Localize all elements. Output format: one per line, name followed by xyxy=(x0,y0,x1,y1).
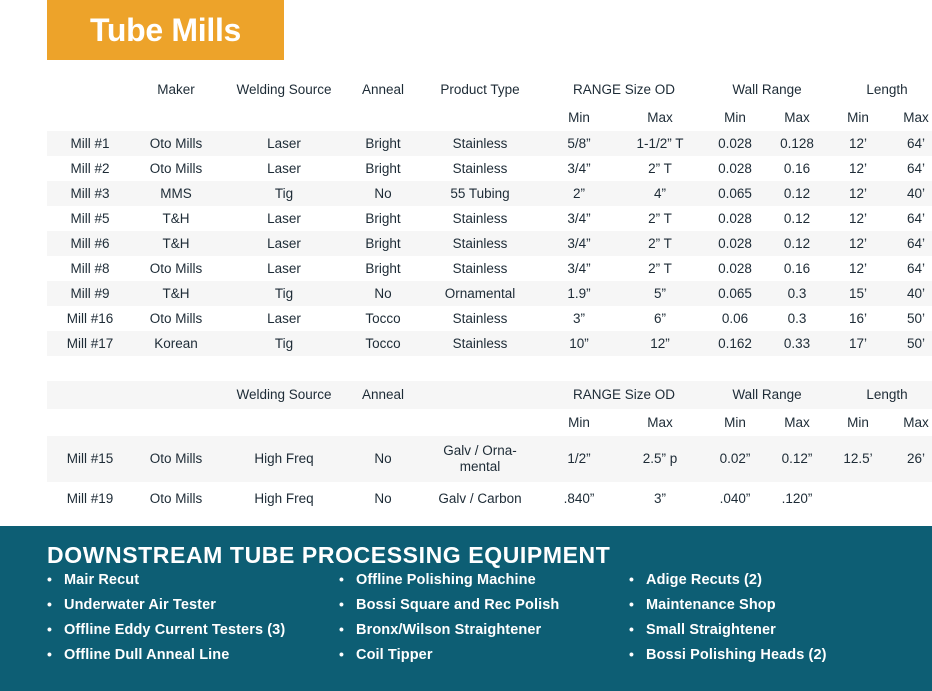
table-row: Mill #19Oto MillsHigh FreqNoGalv / Carbo… xyxy=(47,482,932,516)
sub-blank-2 xyxy=(133,104,219,131)
bullet-icon: • xyxy=(47,647,64,661)
table-row: Mill #6T&HLaserBrightStainless3/4”2” T0.… xyxy=(47,231,932,256)
downstream-equipment-item: •Small Straightener xyxy=(629,622,917,647)
table-row: Mill #1Oto MillsLaserBrightStainless5/8”… xyxy=(47,131,932,156)
welding-source-cell: Tig xyxy=(219,331,349,356)
length-max-cell: 64’ xyxy=(887,256,932,281)
length-min-cell: 12.5’ xyxy=(829,436,887,482)
product-type-cell: Stainless xyxy=(417,156,543,181)
length-max-cell: 64’ xyxy=(887,231,932,256)
length-max-cell: 40’ xyxy=(887,181,932,206)
sub2-wall-max: Max xyxy=(765,409,829,436)
wall-min-cell: 0.028 xyxy=(705,231,765,256)
length-min-cell: 12’ xyxy=(829,256,887,281)
mill-id-cell: Mill #15 xyxy=(47,436,133,482)
length-max-cell: 50’ xyxy=(887,306,932,331)
od-min-cell: 2” xyxy=(543,181,615,206)
sub2-wall-min: Min xyxy=(705,409,765,436)
od-min-cell: 3” xyxy=(543,306,615,331)
downstream-equipment-label: Bossi Square and Rec Polish xyxy=(356,597,559,613)
length-min-cell: 17’ xyxy=(829,331,887,356)
mill-id-cell: Mill #2 xyxy=(47,156,133,181)
header-range-size-od: RANGE Size OD xyxy=(543,76,705,104)
od-min-cell: 3/4” xyxy=(543,231,615,256)
downstream-equipment-label: Bossi Polishing Heads (2) xyxy=(646,647,827,663)
header-blank xyxy=(47,76,133,104)
welding-source-cell: High Freq xyxy=(219,482,349,516)
od-max-cell: 2.5” p xyxy=(615,436,705,482)
downstream-equipment-label: Offline Eddy Current Testers (3) xyxy=(64,622,285,638)
sub-od-max: Max xyxy=(615,104,705,131)
length-min-cell: 12’ xyxy=(829,206,887,231)
welding-source-cell: High Freq xyxy=(219,436,349,482)
bullet-icon: • xyxy=(47,597,64,611)
wall-min-cell: 0.06 xyxy=(705,306,765,331)
sub-wall-max: Max xyxy=(765,104,829,131)
downstream-equipment-section: DOWNSTREAM TUBE PROCESSING EQUIPMENT •Ma… xyxy=(0,526,932,691)
bullet-icon: • xyxy=(339,572,356,586)
welding-source-cell: Laser xyxy=(219,231,349,256)
downstream-column-1: •Mair Recut•Underwater Air Tester•Offlin… xyxy=(47,572,339,672)
maker-cell: Oto Mills xyxy=(133,156,219,181)
maker-cell: T&H xyxy=(133,281,219,306)
sub-length-max: Max xyxy=(887,104,932,131)
anneal-cell: No xyxy=(349,281,417,306)
sub2-length-max: Max xyxy=(887,409,932,436)
length-max-cell xyxy=(887,482,932,516)
wall-min-cell: 0.028 xyxy=(705,131,765,156)
wall-max-cell: 0.16 xyxy=(765,156,829,181)
table-row: Mill #8Oto MillsLaserBrightStainless3/4”… xyxy=(47,256,932,281)
od-min-cell: 3/4” xyxy=(543,256,615,281)
table-row: Mill #15Oto MillsHigh FreqNoGalv / Orna-… xyxy=(47,436,932,482)
downstream-equipment-label: Underwater Air Tester xyxy=(64,597,216,613)
downstream-equipment-item: •Offline Eddy Current Testers (3) xyxy=(47,622,339,647)
product-type-cell: Stainless xyxy=(417,306,543,331)
od-max-cell: 12” xyxy=(615,331,705,356)
sub2-blank-2 xyxy=(133,409,219,436)
downstream-equipment-item: •Offline Polishing Machine xyxy=(339,572,629,597)
length-max-cell: 64’ xyxy=(887,206,932,231)
downstream-equipment-label: Mair Recut xyxy=(64,572,139,588)
wall-max-cell: 0.12 xyxy=(765,181,829,206)
header2-maker xyxy=(133,381,219,409)
downstream-equipment-label: Small Straightener xyxy=(646,622,776,638)
mill-id-cell: Mill #19 xyxy=(47,482,133,516)
od-max-cell: 2” T xyxy=(615,256,705,281)
anneal-cell: Bright xyxy=(349,131,417,156)
wall-max-cell: 0.3 xyxy=(765,281,829,306)
od-min-cell: 10” xyxy=(543,331,615,356)
maker-cell: Oto Mills xyxy=(133,482,219,516)
sub-length-min: Min xyxy=(829,104,887,131)
downstream-equipment-item: •Adige Recuts (2) xyxy=(629,572,917,597)
downstream-equipment-label: Offline Dull Anneal Line xyxy=(64,647,229,663)
sub-blank-4 xyxy=(349,104,417,131)
maker-cell: Korean xyxy=(133,331,219,356)
table-one-body: Mill #1Oto MillsLaserBrightStainless5/8”… xyxy=(47,131,932,356)
welding-source-cell: Laser xyxy=(219,131,349,156)
downstream-equipment-label: Coil Tipper xyxy=(356,647,433,663)
bullet-icon: • xyxy=(629,597,646,611)
table-row: Mill #16Oto MillsLaserToccoStainless3”6”… xyxy=(47,306,932,331)
table-row: Mill #17KoreanTigToccoStainless10”12”0.1… xyxy=(47,331,932,356)
mill-id-cell: Mill #16 xyxy=(47,306,133,331)
header-maker: Maker xyxy=(133,76,219,104)
od-max-cell: 2” T xyxy=(615,206,705,231)
sub2-blank-5 xyxy=(417,409,543,436)
length-max-cell: 64’ xyxy=(887,156,932,181)
sub-od-min: Min xyxy=(543,104,615,131)
od-max-cell: 1-1/2” T xyxy=(615,131,705,156)
wall-min-cell: 0.065 xyxy=(705,281,765,306)
od-max-cell: 6” xyxy=(615,306,705,331)
anneal-cell: No xyxy=(349,482,417,516)
mill-id-cell: Mill #5 xyxy=(47,206,133,231)
sub-blank-1 xyxy=(47,104,133,131)
downstream-equipment-item: •Mair Recut xyxy=(47,572,339,597)
length-min-cell xyxy=(829,482,887,516)
tube-mills-infographic: Tube Mills Maker Welding Source Anneal P… xyxy=(0,0,932,691)
bullet-icon: • xyxy=(629,622,646,636)
product-type-cell: Stainless xyxy=(417,131,543,156)
sub-wall-min: Min xyxy=(705,104,765,131)
table-two-group-header-row: Welding Source Anneal RANGE Size OD Wall… xyxy=(47,381,932,409)
wall-max-cell: 0.3 xyxy=(765,306,829,331)
downstream-section-title: DOWNSTREAM TUBE PROCESSING EQUIPMENT xyxy=(47,542,610,569)
header2-blank xyxy=(47,381,133,409)
sub2-od-min: Min xyxy=(543,409,615,436)
product-type-cell: Ornamental xyxy=(417,281,543,306)
downstream-equipment-item: •Offline Dull Anneal Line xyxy=(47,647,339,672)
welding-source-cell: Tig xyxy=(219,281,349,306)
bullet-icon: • xyxy=(339,622,356,636)
anneal-cell: Bright xyxy=(349,256,417,281)
downstream-equipment-label: Maintenance Shop xyxy=(646,597,776,613)
wall-min-cell: 0.065 xyxy=(705,181,765,206)
table-row: Mill #2Oto MillsLaserBrightStainless3/4”… xyxy=(47,156,932,181)
maker-cell: MMS xyxy=(133,181,219,206)
od-max-cell: 4” xyxy=(615,181,705,206)
downstream-equipment-item: •Bossi Square and Rec Polish xyxy=(339,597,629,622)
product-type-cell: Galv / Orna-mental xyxy=(417,436,543,482)
header2-product-type xyxy=(417,381,543,409)
anneal-cell: No xyxy=(349,181,417,206)
anneal-cell: Tocco xyxy=(349,331,417,356)
mill-id-cell: Mill #6 xyxy=(47,231,133,256)
length-min-cell: 12’ xyxy=(829,156,887,181)
mill-id-cell: Mill #17 xyxy=(47,331,133,356)
anneal-cell: Bright xyxy=(349,231,417,256)
sub2-length-min: Min xyxy=(829,409,887,436)
sub2-od-max: Max xyxy=(615,409,705,436)
anneal-cell: Tocco xyxy=(349,306,417,331)
welding-source-cell: Laser xyxy=(219,256,349,281)
mill-id-cell: Mill #1 xyxy=(47,131,133,156)
header2-range-size-od: RANGE Size OD xyxy=(543,381,705,409)
downstream-equipment-label: Adige Recuts (2) xyxy=(646,572,762,588)
wall-max-cell: 0.12” xyxy=(765,436,829,482)
mill-id-cell: Mill #3 xyxy=(47,181,133,206)
anneal-cell: No xyxy=(349,436,417,482)
od-min-cell: 1/2” xyxy=(543,436,615,482)
od-max-cell: 5” xyxy=(615,281,705,306)
maker-cell: T&H xyxy=(133,231,219,256)
product-type-cell: Stainless xyxy=(417,206,543,231)
od-min-cell: 5/8” xyxy=(543,131,615,156)
table-row: Mill #5T&HLaserBrightStainless3/4”2” T0.… xyxy=(47,206,932,231)
anneal-cell: Bright xyxy=(349,206,417,231)
maker-cell: T&H xyxy=(133,206,219,231)
maker-cell: Oto Mills xyxy=(133,256,219,281)
title-banner: Tube Mills xyxy=(47,0,284,60)
downstream-column-2: •Offline Polishing Machine•Bossi Square … xyxy=(339,572,629,672)
bullet-icon: • xyxy=(339,647,356,661)
mill-id-cell: Mill #8 xyxy=(47,256,133,281)
downstream-equipment-label: Offline Polishing Machine xyxy=(356,572,536,588)
wall-min-cell: 0.028 xyxy=(705,206,765,231)
sub-blank-3 xyxy=(219,104,349,131)
wall-max-cell: 0.33 xyxy=(765,331,829,356)
wall-max-cell: .120” xyxy=(765,482,829,516)
wall-max-cell: 0.12 xyxy=(765,206,829,231)
welding-source-cell: Laser xyxy=(219,306,349,331)
length-min-cell: 12’ xyxy=(829,181,887,206)
bullet-icon: • xyxy=(629,647,646,661)
product-type-cell: Galv / Carbon xyxy=(417,482,543,516)
product-type-cell: Stainless xyxy=(417,231,543,256)
welding-source-cell: Tig xyxy=(219,181,349,206)
downstream-equipment-item: •Bossi Polishing Heads (2) xyxy=(629,647,917,672)
product-type-cell: Stainless xyxy=(417,256,543,281)
header-product-type: Product Type xyxy=(417,76,543,104)
od-min-cell: 3/4” xyxy=(543,206,615,231)
wall-max-cell: 0.12 xyxy=(765,231,829,256)
od-max-cell: 2” T xyxy=(615,231,705,256)
page-title: Tube Mills xyxy=(90,14,241,46)
length-max-cell: 50’ xyxy=(887,331,932,356)
length-max-cell: 26’ xyxy=(887,436,932,482)
mill-specs-table-primary: Maker Welding Source Anneal Product Type… xyxy=(47,76,885,356)
length-min-cell: 12’ xyxy=(829,131,887,156)
downstream-equipment-item: •Bronx/Wilson Straightener xyxy=(339,622,629,647)
maker-cell: Oto Mills xyxy=(133,436,219,482)
anneal-cell: Bright xyxy=(349,156,417,181)
sub2-blank-3 xyxy=(219,409,349,436)
table-row: Mill #9T&HTigNoOrnamental1.9”5”0.0650.31… xyxy=(47,281,932,306)
downstream-equipment-item: •Maintenance Shop xyxy=(629,597,917,622)
wall-min-cell: 0.02” xyxy=(705,436,765,482)
downstream-equipment-columns: •Mair Recut•Underwater Air Tester•Offlin… xyxy=(47,572,917,672)
table-one-group-header-row: Maker Welding Source Anneal Product Type… xyxy=(47,76,932,104)
table-two-body: Mill #15Oto MillsHigh FreqNoGalv / Orna-… xyxy=(47,436,932,516)
header-wall-range: Wall Range xyxy=(705,76,829,104)
maker-cell: Oto Mills xyxy=(133,306,219,331)
od-min-cell: .840” xyxy=(543,482,615,516)
header2-welding-source: Welding Source xyxy=(219,381,349,409)
table-one-sub-header-row: Min Max Min Max Min Max xyxy=(47,104,932,131)
mill-id-cell: Mill #9 xyxy=(47,281,133,306)
header-anneal: Anneal xyxy=(349,76,417,104)
length-min-cell: 16’ xyxy=(829,306,887,331)
product-type-cell: 55 Tubing xyxy=(417,181,543,206)
header-length: Length xyxy=(829,76,932,104)
sub2-blank-4 xyxy=(349,409,417,436)
od-min-cell: 1.9” xyxy=(543,281,615,306)
downstream-equipment-item: •Underwater Air Tester xyxy=(47,597,339,622)
header2-wall-range: Wall Range xyxy=(705,381,829,409)
downstream-equipment-label: Bronx/Wilson Straightener xyxy=(356,622,541,638)
welding-source-cell: Laser xyxy=(219,206,349,231)
length-max-cell: 64’ xyxy=(887,131,932,156)
maker-cell: Oto Mills xyxy=(133,131,219,156)
od-max-cell: 3” xyxy=(615,482,705,516)
welding-source-cell: Laser xyxy=(219,156,349,181)
mill-specs-table-secondary: Welding Source Anneal RANGE Size OD Wall… xyxy=(47,381,885,516)
length-min-cell: 15’ xyxy=(829,281,887,306)
table-row: Mill #3MMSTigNo55 Tubing2”4”0.0650.1212’… xyxy=(47,181,932,206)
wall-min-cell: 0.162 xyxy=(705,331,765,356)
od-max-cell: 2” T xyxy=(615,156,705,181)
wall-max-cell: 0.128 xyxy=(765,131,829,156)
bullet-icon: • xyxy=(47,572,64,586)
header-welding-source: Welding Source xyxy=(219,76,349,104)
wall-min-cell: .040” xyxy=(705,482,765,516)
sub-blank-5 xyxy=(417,104,543,131)
bullet-icon: • xyxy=(47,622,64,636)
header2-length: Length xyxy=(829,381,932,409)
header2-anneal: Anneal xyxy=(349,381,417,409)
bullet-icon: • xyxy=(339,597,356,611)
sub2-blank-1 xyxy=(47,409,133,436)
product-type-cell: Stainless xyxy=(417,331,543,356)
length-min-cell: 12’ xyxy=(829,231,887,256)
downstream-column-3: •Adige Recuts (2)•Maintenance Shop•Small… xyxy=(629,572,917,672)
od-min-cell: 3/4” xyxy=(543,156,615,181)
length-max-cell: 40’ xyxy=(887,281,932,306)
wall-min-cell: 0.028 xyxy=(705,256,765,281)
wall-min-cell: 0.028 xyxy=(705,156,765,181)
downstream-equipment-item: •Coil Tipper xyxy=(339,647,629,672)
wall-max-cell: 0.16 xyxy=(765,256,829,281)
table-two-sub-header-row: Min Max Min Max Min Max xyxy=(47,409,932,436)
bullet-icon: • xyxy=(629,572,646,586)
